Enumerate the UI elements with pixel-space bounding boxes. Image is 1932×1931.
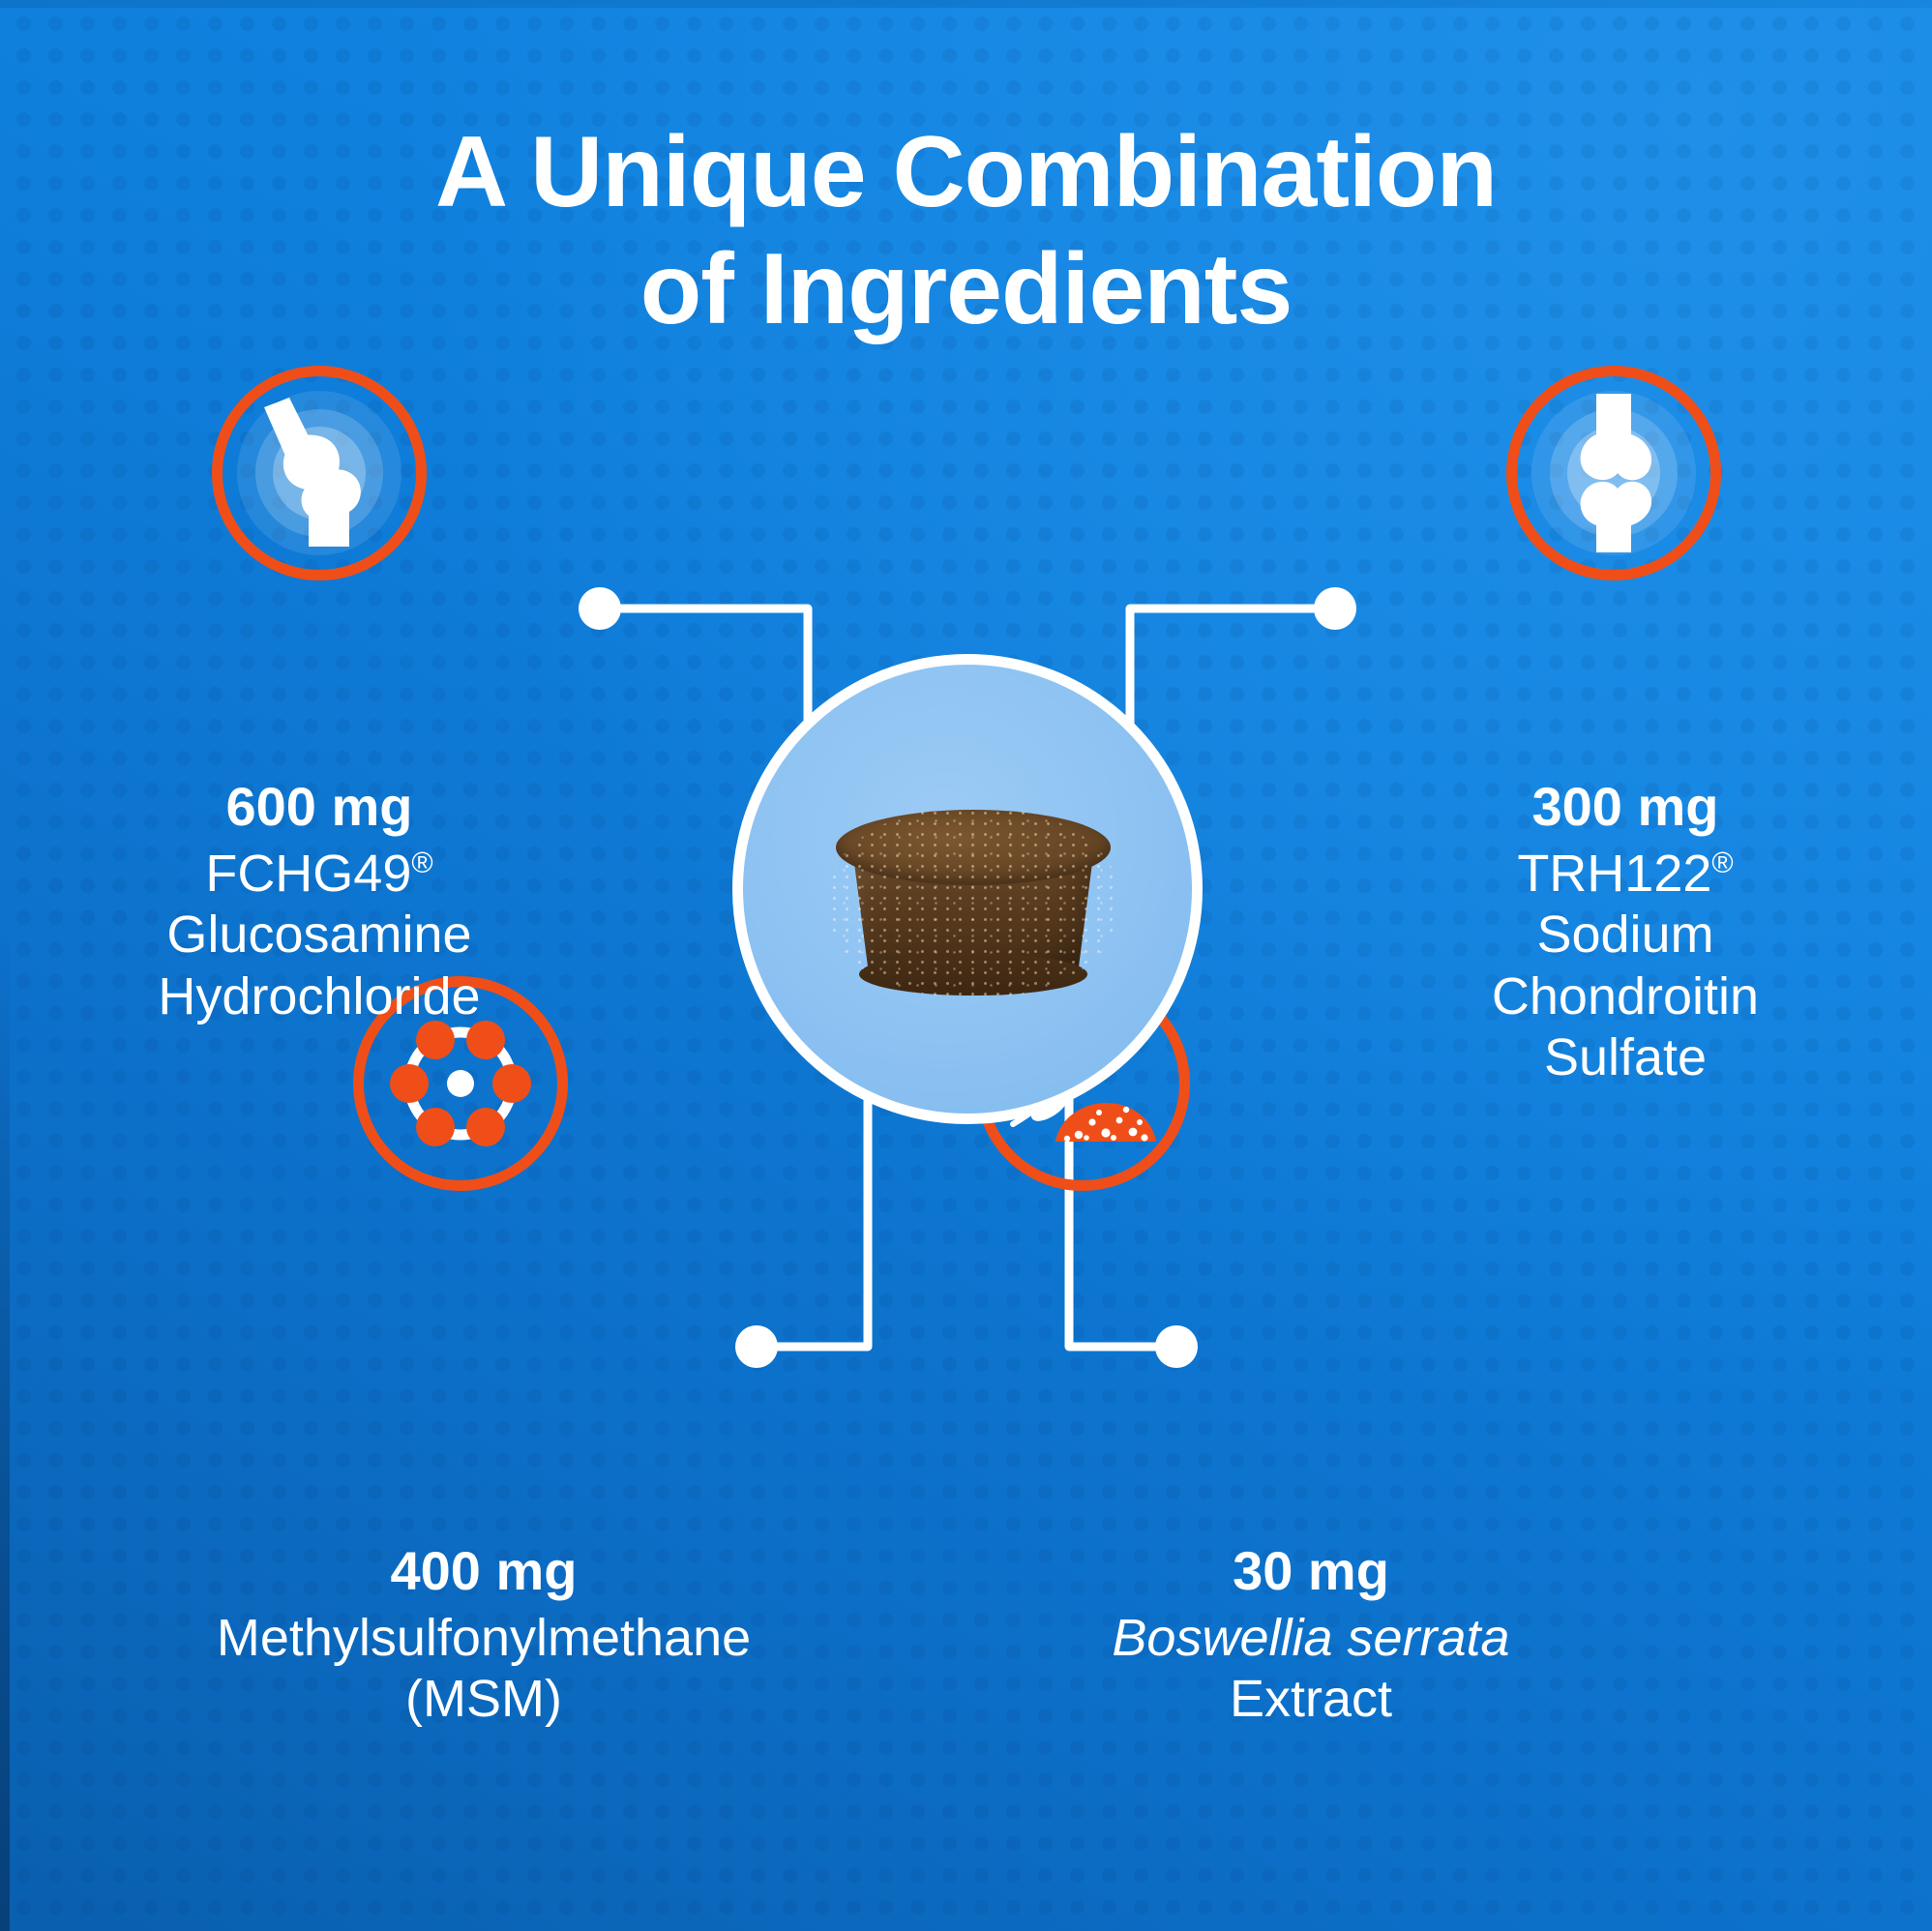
ingredient-name-line-2: (MSM): [405, 1670, 562, 1728]
dose-amount: 30 mg: [992, 1538, 1630, 1604]
dose-amount: 400 mg: [97, 1538, 871, 1604]
ingredient-text-msm: 400 mg Methylsulfonylmethane (MSM): [97, 1538, 871, 1731]
registered-mark: ®: [1711, 847, 1733, 879]
ingredient-name-line-2: Extract: [1230, 1670, 1392, 1728]
ingredient-name-line-1: Methylsulfonylmethane: [217, 1609, 751, 1667]
connector-dot-top-right: [1314, 587, 1356, 630]
product-hero-circle: [732, 654, 1203, 1124]
ingredient-name-line-1: Glucosamine: [166, 906, 471, 964]
ingredient-name-line-1: Boswellia serrata: [1112, 1609, 1509, 1667]
ingredient-name-line-3: Sulfate: [1544, 1028, 1707, 1086]
trademark-code: TRH122: [1517, 845, 1711, 903]
tablet-top-face: [836, 810, 1111, 885]
connector-bottom-left: [757, 1074, 868, 1347]
icon-badge-chondroitin[interactable]: [1506, 366, 1721, 580]
connector-dot-top-left: [579, 587, 621, 630]
trademark-code: FCHG49: [205, 845, 411, 903]
top-edge-shading: [0, 0, 1932, 8]
ingredient-text-glucosamine: 600 mg FCHG49® Glucosamine Hydrochloride: [58, 774, 580, 1027]
title-line-1: A Unique Combination: [435, 116, 1497, 228]
title-line-2: of Ingredients: [0, 231, 1932, 348]
dose-amount: 600 mg: [58, 774, 580, 840]
soft-chew-tablet-image: [828, 808, 1118, 997]
tablet-bottom-edge: [859, 953, 1087, 995]
icon-badge-glucosamine[interactable]: [212, 366, 427, 580]
ingredient-name-line-2: Hydrochloride: [158, 967, 480, 1025]
page-title: A Unique Combination of Ingredients: [0, 114, 1932, 347]
bent-knee-joint-icon: [247, 396, 392, 550]
straight-bone-joint-icon: [1556, 392, 1672, 554]
infographic-canvas: A Unique Combination of Ingredients: [0, 0, 1932, 1931]
connector-top-left: [600, 609, 808, 735]
ingredient-name: TRH122® Sodium Chondroitin Sulfate: [1354, 844, 1896, 1088]
ingredient-name: Boswellia serrata Extract: [992, 1608, 1630, 1730]
registered-mark: ®: [411, 847, 432, 879]
ingredient-name-line-2: Chondroitin: [1492, 967, 1759, 1025]
ingredient-name-line-1: Sodium: [1536, 906, 1713, 964]
ingredient-name: FCHG49® Glucosamine Hydrochloride: [58, 844, 580, 1027]
dose-amount: 300 mg: [1354, 774, 1896, 840]
ingredient-text-boswellia: 30 mg Boswellia serrata Extract: [992, 1538, 1630, 1731]
connector-dot-bottom-left: [735, 1325, 778, 1368]
ingredient-text-chondroitin: 300 mg TRH122® Sodium Chondroitin Sulfat…: [1354, 774, 1896, 1088]
connector-top-right: [1130, 609, 1335, 735]
ingredient-name: Methylsulfonylmethane (MSM): [97, 1608, 871, 1730]
connector-dot-bottom-right: [1155, 1325, 1198, 1368]
